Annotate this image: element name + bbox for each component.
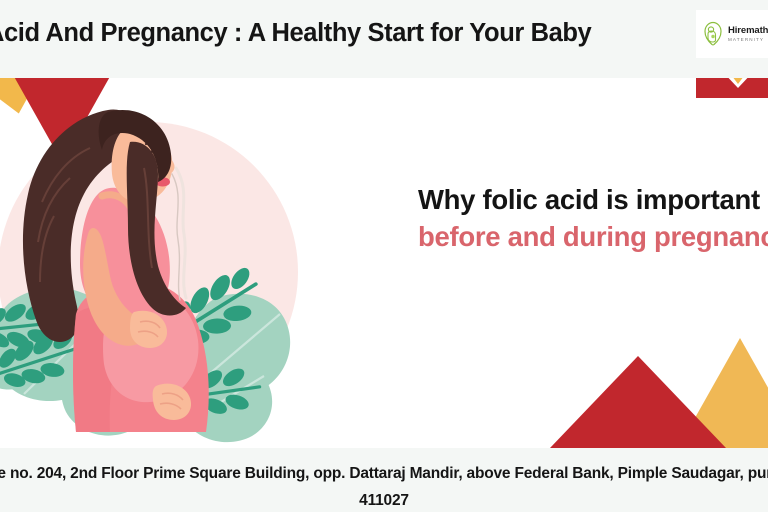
triangle-red-bottom-right-icon	[550, 356, 726, 448]
headline-block: Why folic acid is important before and d…	[418, 182, 768, 256]
headline-secondary: before and during pregnancy	[418, 218, 768, 256]
pregnant-woman-illustration	[0, 82, 320, 444]
red-band-top-right-icon	[696, 78, 768, 98]
poster-body: Why folic acid is important before and d…	[0, 78, 768, 448]
footer-band: ffice no. 204, 2nd Floor Prime Square Bu…	[0, 448, 768, 512]
logo-text: Hiremath H Maternity	[728, 25, 768, 43]
poster-page: Acid And Pregnancy : A Healthy Start for…	[0, 0, 768, 512]
header-band: Acid And Pregnancy : A Healthy Start for…	[0, 0, 768, 78]
mother-and-baby-icon	[702, 21, 724, 47]
logo-name: Hiremath H	[728, 25, 768, 36]
headline-primary: Why folic acid is important	[418, 182, 768, 218]
logo-tagline: Maternity	[728, 36, 768, 43]
red-band-notch-inner-icon	[729, 78, 747, 84]
clinic-logo: Hiremath H Maternity	[696, 10, 768, 58]
clinic-address: ffice no. 204, 2nd Floor Prime Square Bu…	[0, 460, 768, 512]
page-title: Acid And Pregnancy : A Healthy Start for…	[0, 17, 686, 49]
